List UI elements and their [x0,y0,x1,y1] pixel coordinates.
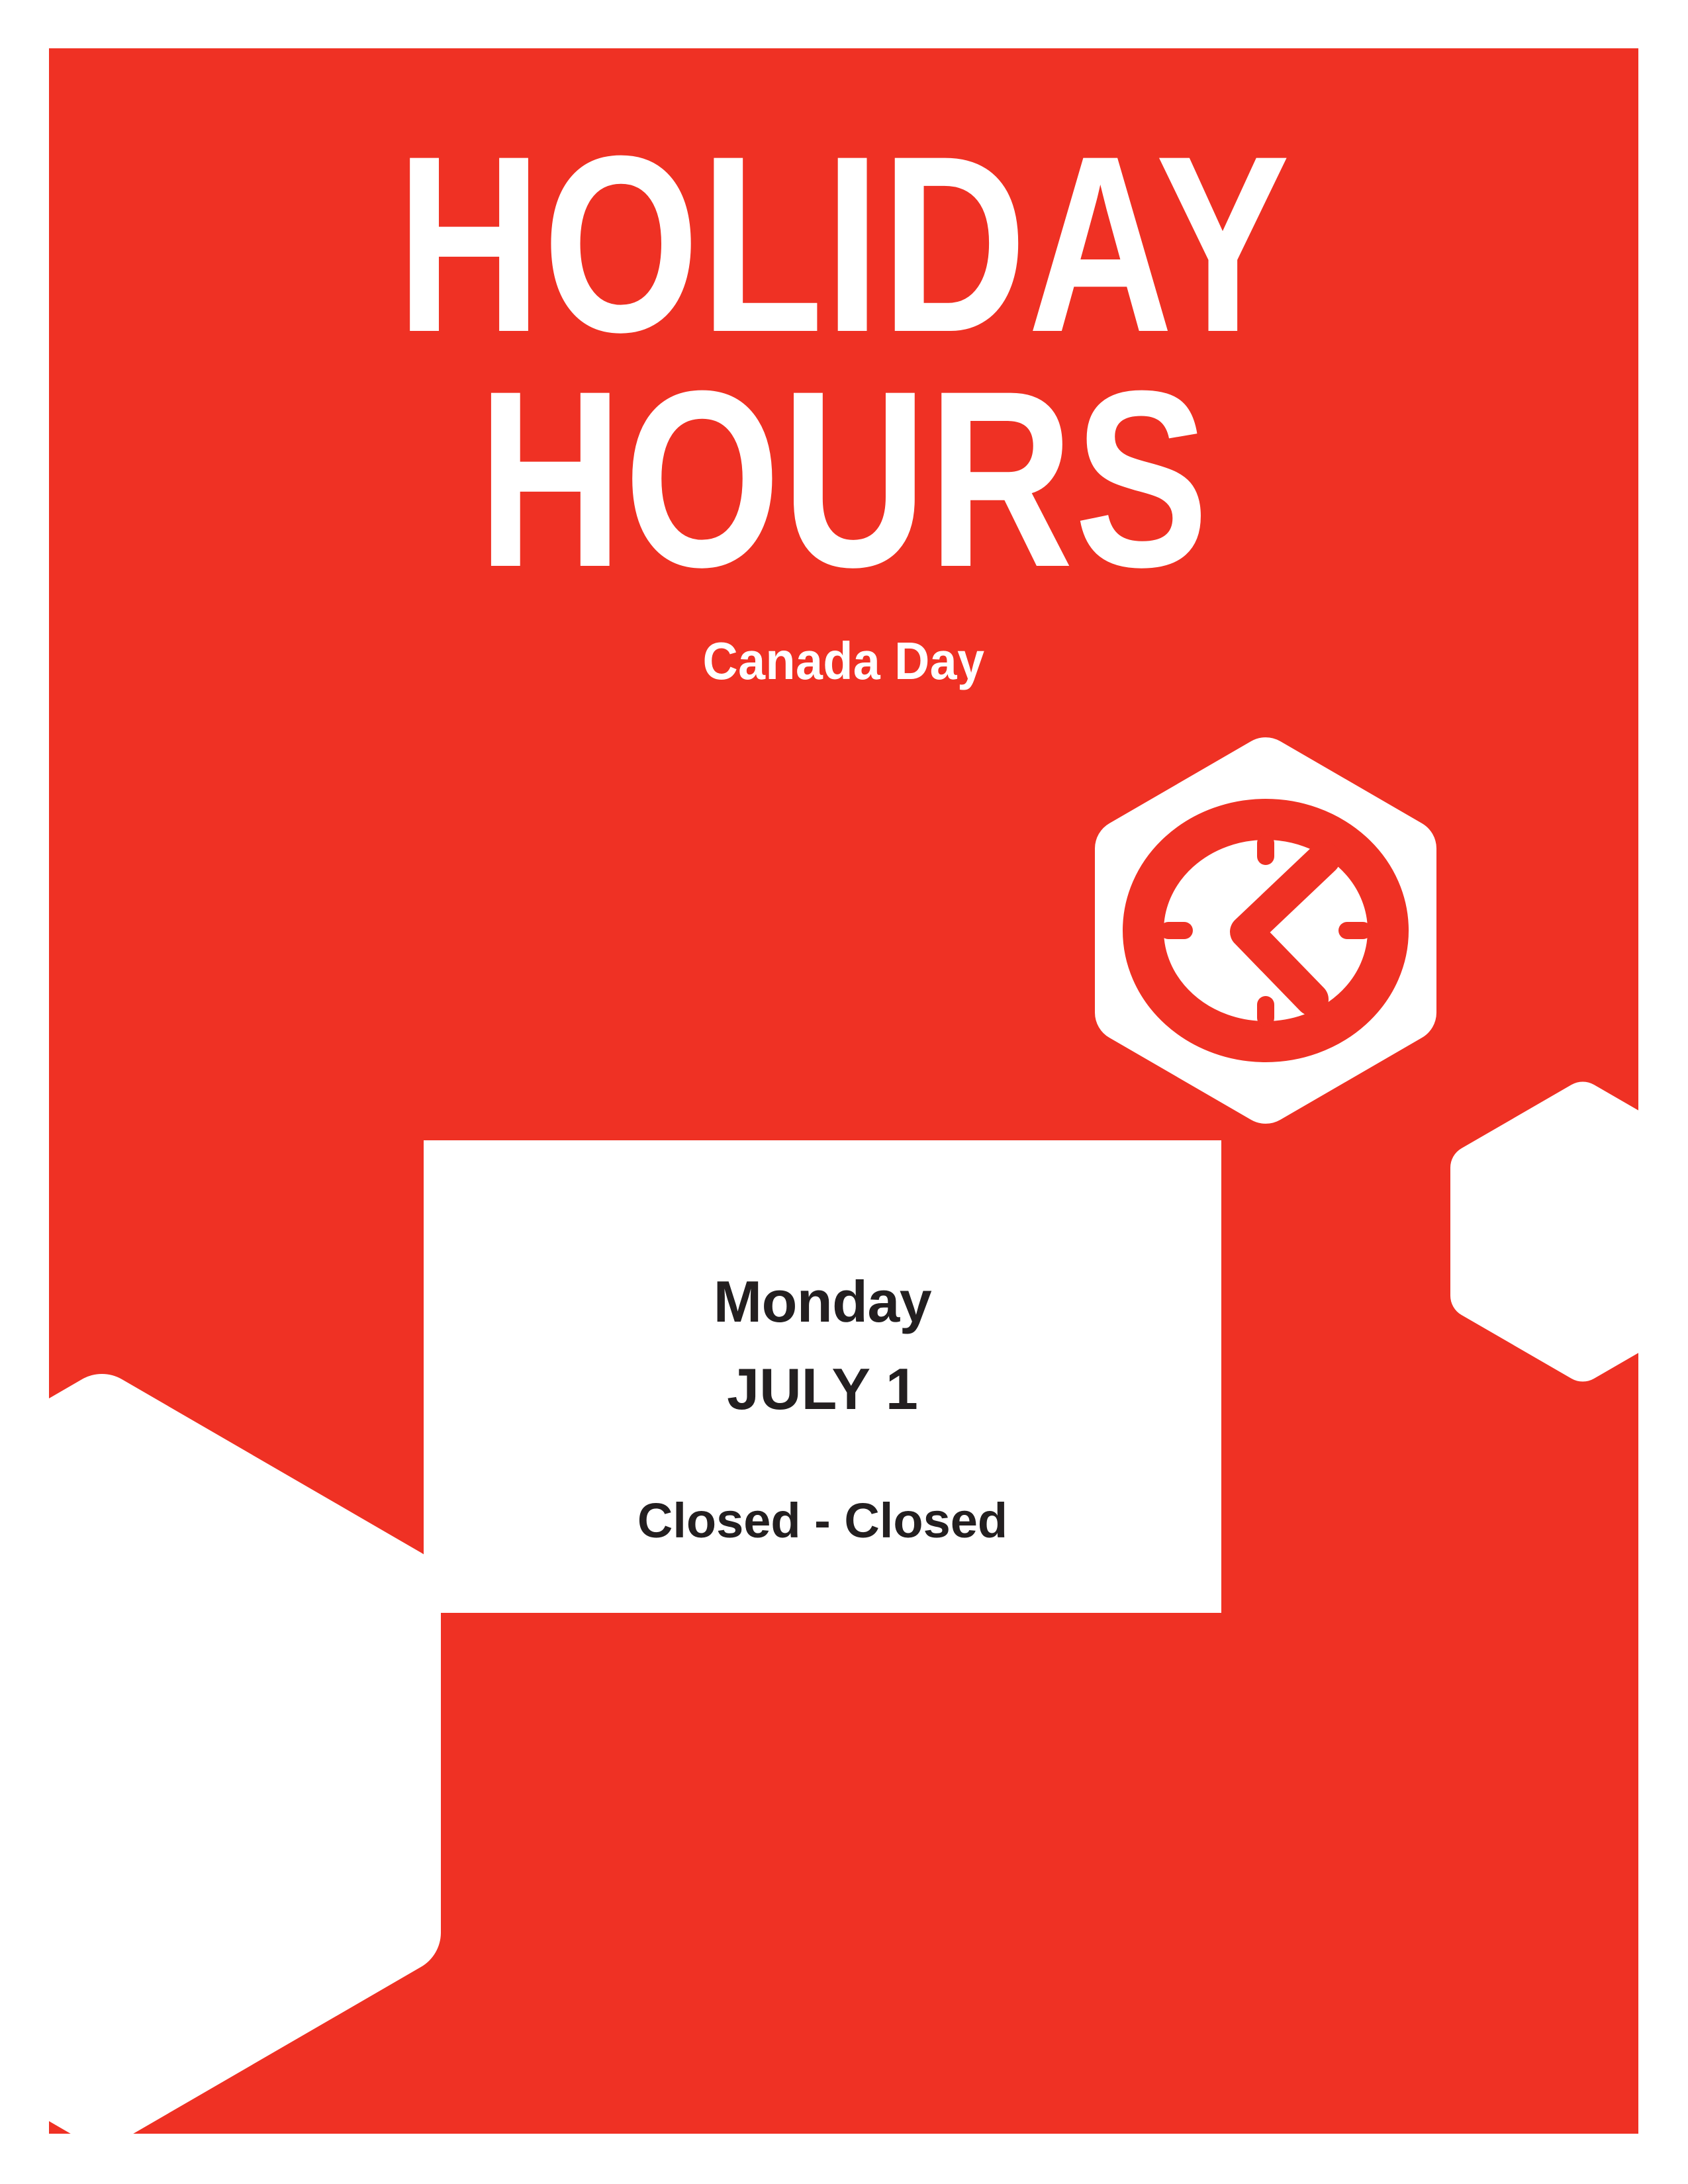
clock-hands [1246,858,1324,999]
hexagon-shape [1450,1081,1638,1381]
clock-tick-6 [1257,996,1274,1026]
hexagon-shape [1095,737,1436,1124]
title-line-holiday: HOLIDAY [208,126,1479,361]
hexagon-decoration [1450,1081,1638,1381]
clock-in-hexagon-icon [1095,737,1436,1124]
hexagon-decoration-bottom-left [49,1374,441,2134]
holiday-hours-poster: HOLIDAY HOURS Canada Day Monday JULY 1 C… [0,0,1688,2184]
card-hours: Closed - Closed [637,1496,1008,1545]
holiday-info-card: Monday JULY 1 Closed - Closed [424,1140,1221,1613]
hexagon-shape [49,1374,441,2134]
title-line-hours: HOURS [208,361,1479,596]
card-date: JULY 1 [727,1360,918,1418]
clock-tick-12 [1257,835,1274,865]
poster-red-background: HOLIDAY HOURS Canada Day Monday JULY 1 C… [49,48,1638,2134]
poster-headline: HOLIDAY HOURS [49,126,1638,597]
clock-ring [1143,819,1388,1042]
clock-tick-3 [1338,922,1372,939]
poster-subtitle: Canada Day [113,631,1575,692]
clock-tick-9 [1160,922,1193,939]
card-weekday: Monday [714,1273,931,1331]
